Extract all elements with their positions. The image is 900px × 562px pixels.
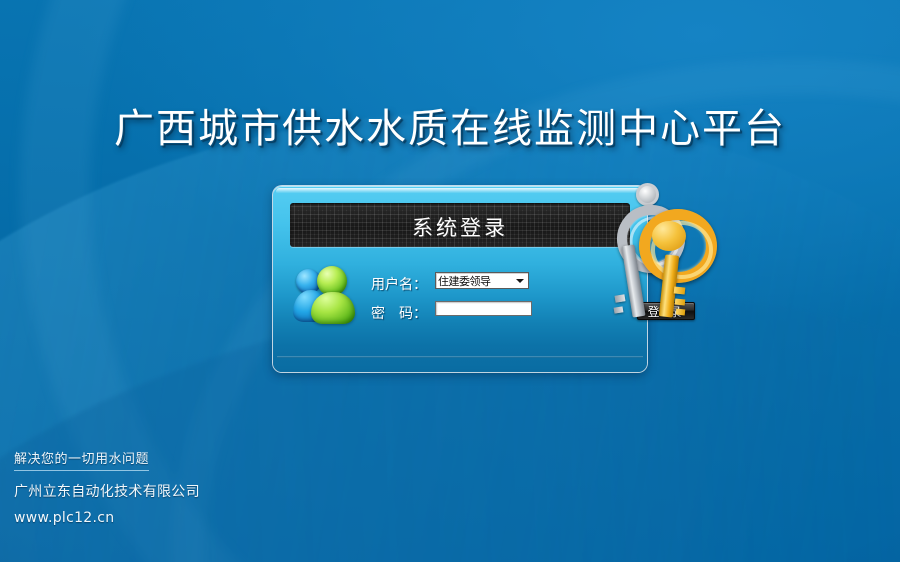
password-input[interactable] [435,301,532,316]
footer-url[interactable]: www.plc12.cn [14,510,200,526]
keys-icon-ring [636,183,659,206]
login-screen: 广西城市供水水质在线监测中心平台 系统登录 用户名： 住建委领导 密 码： [0,0,900,562]
chevron-down-icon [516,279,524,283]
users-icon [295,266,359,324]
keys-icon-gold-tooth-2 [675,298,686,305]
password-label: 密 码： [371,303,433,323]
login-panel: 系统登录 用户名： 住建委领导 密 码： 登 录 [273,186,647,372]
username-select[interactable]: 住建委领导 [435,272,529,289]
footer: 解决您的一切用水问题 广州立东自动化技术有限公司 www.plc12.cn [14,448,200,526]
footer-slogan: 解决您的一切用水问题 [14,448,149,471]
footer-company: 广州立东自动化技术有限公司 [14,481,200,501]
username-label: 用户名： [371,274,433,294]
page-title: 广西城市供水水质在线监测中心平台 [0,96,900,154]
login-panel-header: 系统登录 [290,203,630,247]
username-select-value: 住建委领导 [436,273,491,289]
keys-icon [612,183,704,329]
keys-icon-silver-tooth-1 [615,294,626,302]
keys-icon-gold-tooth-3 [676,309,686,316]
keys-icon-silver-tooth-2 [614,306,624,313]
username-row: 用户名： 住建委领导 [371,272,631,296]
keys-icon-gold-tooth-1 [674,286,686,294]
keys-icon-gold-head-inner [652,221,686,251]
panel-divider [277,356,643,358]
login-form: 用户名： 住建委领导 密 码： 登 录 [371,272,631,330]
password-row: 密 码： [371,301,631,325]
login-panel-header-title: 系统登录 [290,212,630,242]
panel-gloss [276,188,644,193]
users-icon-front-body [311,292,355,324]
